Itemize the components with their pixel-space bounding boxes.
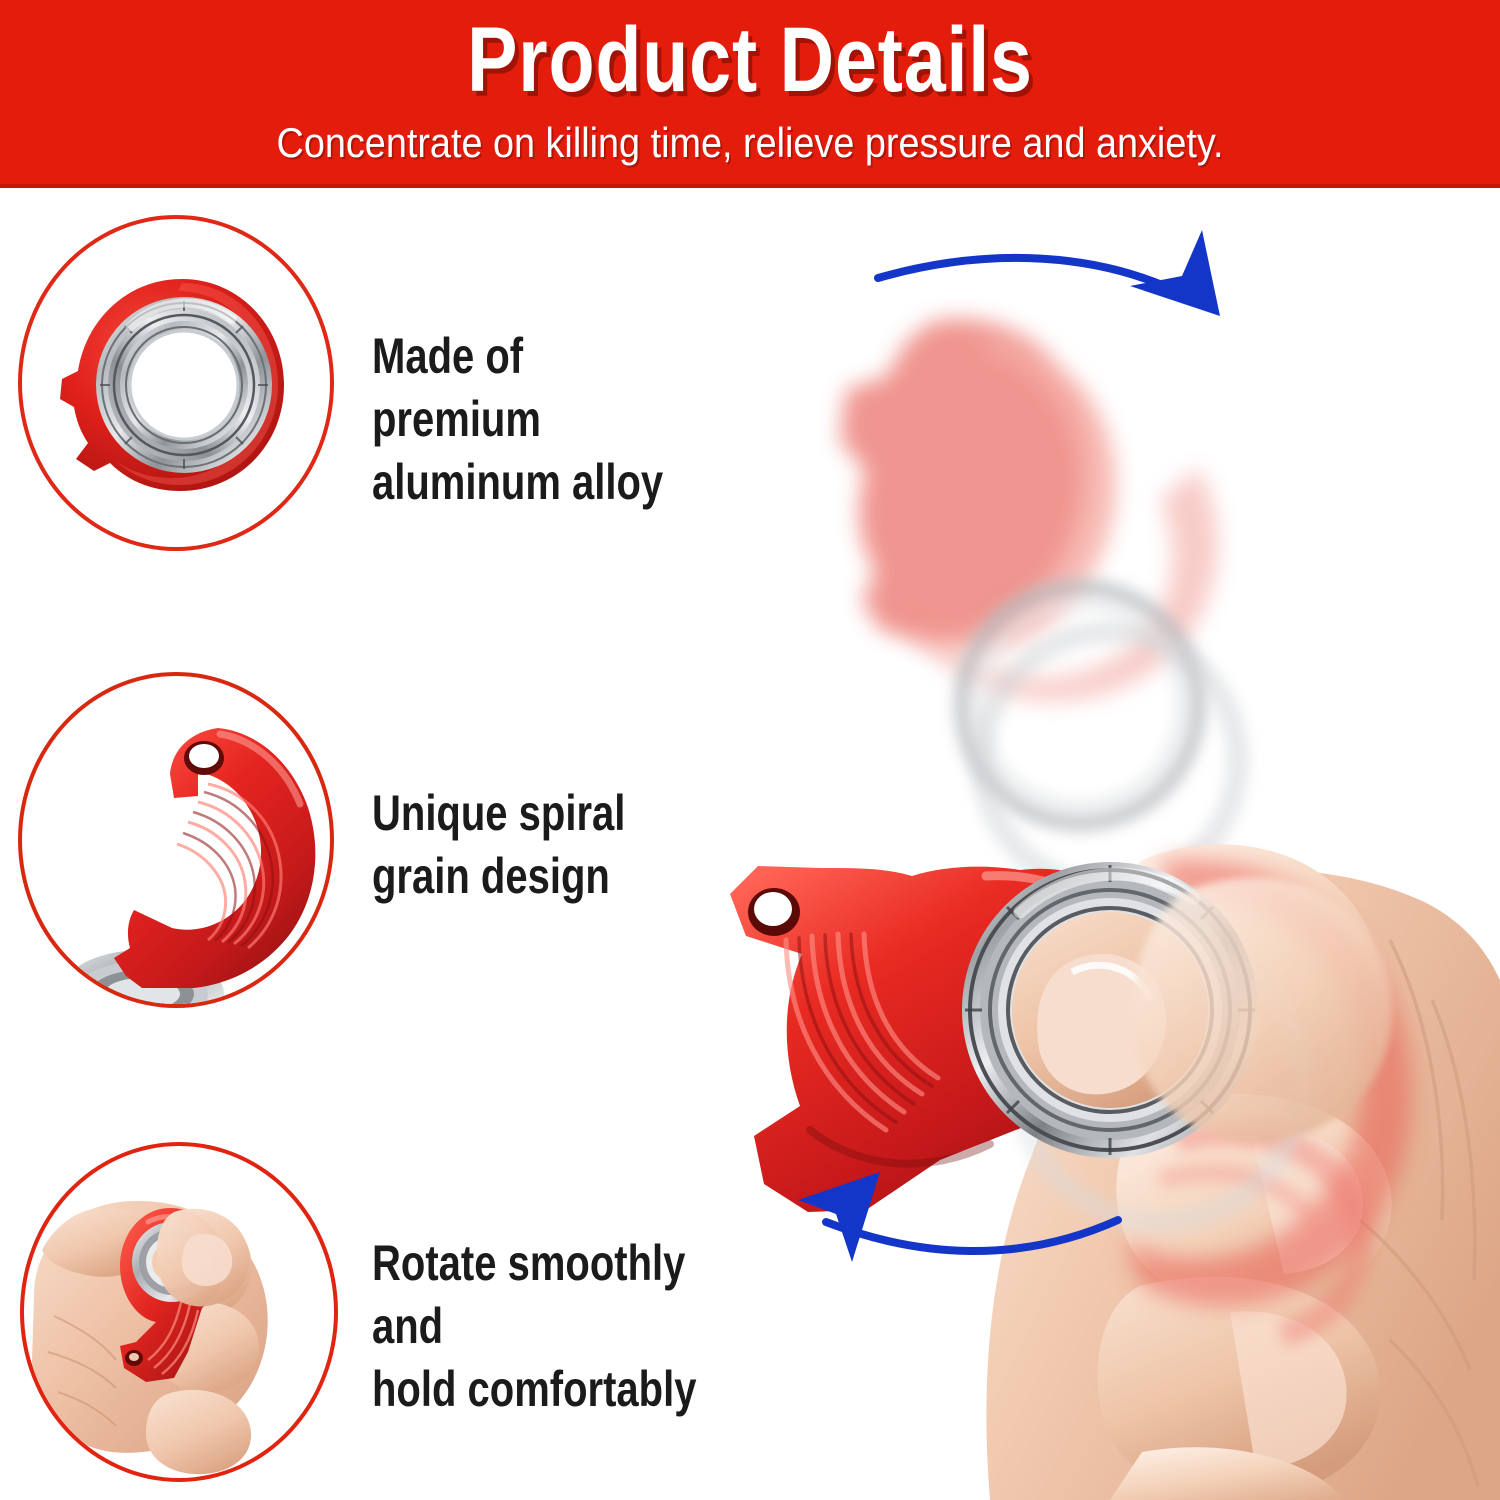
- page-title: Product Details: [135, 8, 1365, 112]
- feature-row-rotation: Rotate smoothly and hold comfortably: [0, 1142, 780, 1487]
- feature-label-spiral-grain: Unique spiral grain design: [372, 782, 625, 908]
- feature-label-rotation: Rotate smoothly and hold comfortably: [372, 1232, 698, 1421]
- feature-image-material: [18, 215, 334, 551]
- page-subtitle: Concentrate on killing time, relieve pre…: [75, 118, 1425, 168]
- feature-image-spiral-grain: [18, 672, 334, 1008]
- product-details-infographic: Product Details Concentrate on killing t…: [0, 0, 1500, 1500]
- rotation-arrow-top: [878, 230, 1220, 316]
- header-banner: Product Details Concentrate on killing t…: [0, 0, 1500, 188]
- feature-row-material: Made of premium aluminum alloy: [0, 215, 780, 560]
- fingertip-front: [157, 1209, 249, 1307]
- spinner-body-crescent: [114, 728, 315, 988]
- feature-image-rotation: [20, 1142, 338, 1482]
- feature-label-material: Made of premium aluminum alloy: [372, 325, 698, 514]
- ball-bearing: [96, 297, 272, 473]
- feature-row-spiral-grain: Unique spiral grain design: [0, 672, 780, 1022]
- hero-image: [690, 200, 1500, 1500]
- fingertip-blur-front: [1132, 877, 1392, 1142]
